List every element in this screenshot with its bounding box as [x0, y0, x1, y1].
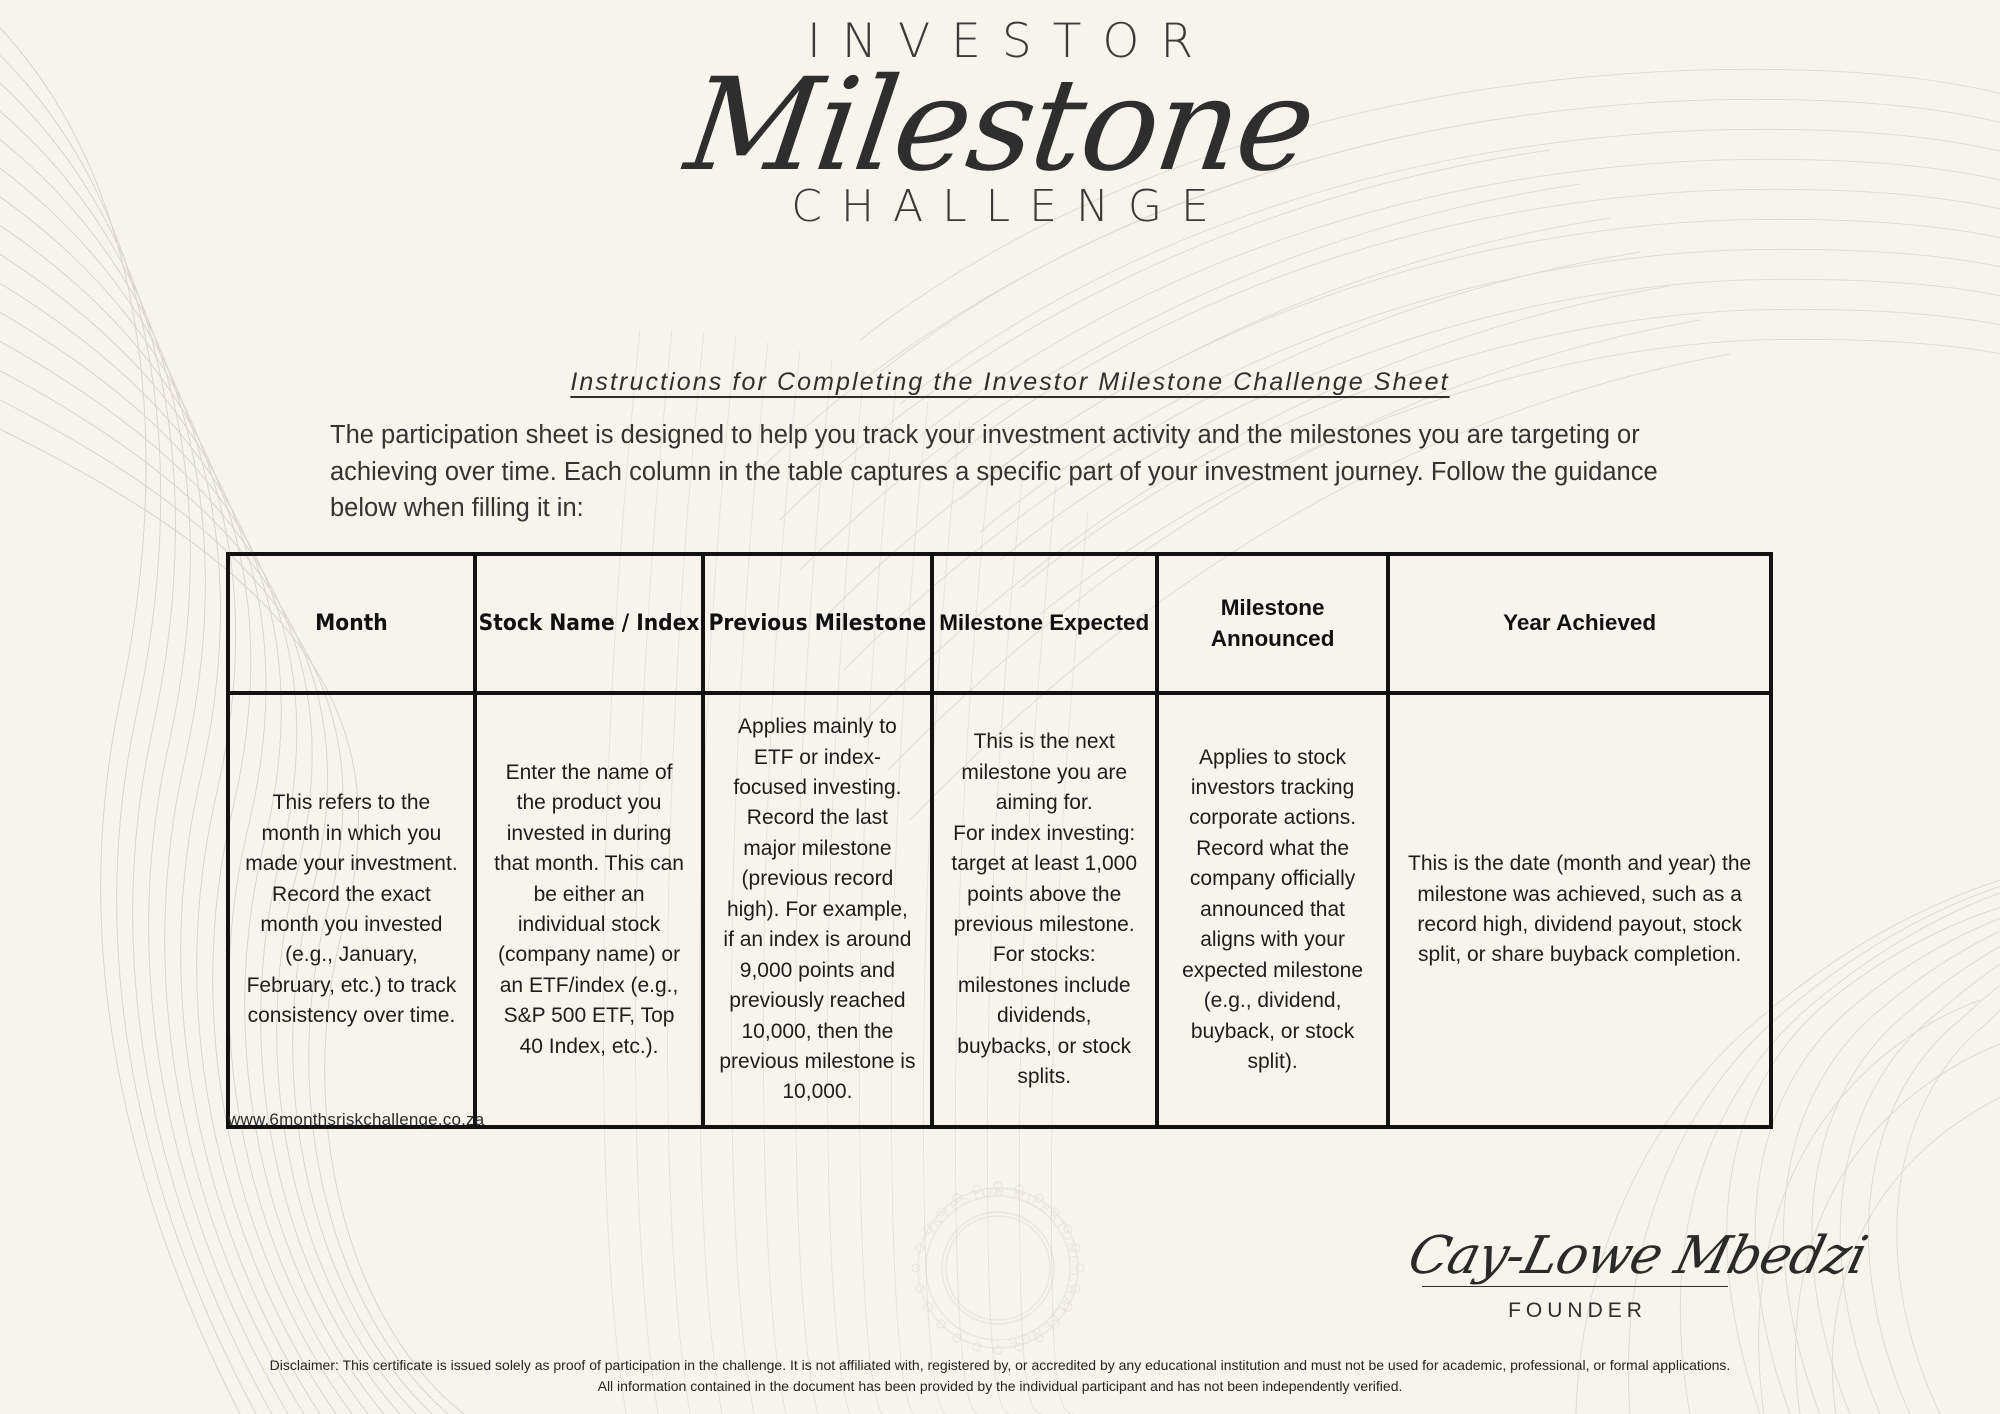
column-header-stock-name-index: Stock Name / Index [475, 554, 703, 693]
certificate-title: INVESTOR Milestone CHALLENGE [0, 18, 2000, 229]
title-script-milestone: Milestone [0, 59, 2000, 193]
column-header-milestone-announced: Milestone Announced [1157, 554, 1388, 693]
instructions-heading: Instructions for Completing the Investor… [330, 368, 1690, 397]
cell-previous-milestone-description: Applies mainly to ETF or index-focused i… [703, 693, 931, 1127]
signature-role: FOUNDER [1410, 1299, 1740, 1323]
cell-year-achieved-description: This is the date (month and year) the mi… [1388, 693, 1771, 1127]
disclaimer-line-2: All information contained in the documen… [0, 1376, 2000, 1398]
signature-line [1422, 1286, 1728, 1287]
cell-milestone-announced-description: Applies to stock investors tracking corp… [1157, 693, 1388, 1127]
signature-name: Cay-Lowe Mbedzi [1404, 1230, 1747, 1282]
seal-watermark: INVESTOR MILESTONE CHALLENGE [898, 1168, 1098, 1368]
cell-milestone-expected-description: This is the next milestone you are aimin… [932, 693, 1157, 1127]
website-url[interactable]: www.6monthsriskchallenge.co.za [228, 1110, 484, 1130]
seal-icon: INVESTOR MILESTONE CHALLENGE [898, 1168, 1098, 1368]
instructions-section: Instructions for Completing the Investor… [330, 368, 1690, 527]
table-row: This refers to the month in which you ma… [228, 693, 1771, 1127]
signature-block: Cay-Lowe Mbedzi FOUNDER [1410, 1230, 1740, 1323]
guidance-table: Month Stock Name / Index Previous Milest… [226, 552, 1773, 1129]
column-header-month: Month [228, 554, 475, 693]
cell-month-description: This refers to the month in which you ma… [228, 693, 475, 1127]
column-header-year-achieved: Year Achieved [1388, 554, 1771, 693]
certificate-sheet: INVESTOR Milestone CHALLENGE Instruction… [0, 0, 2000, 1414]
column-header-previous-milestone: Previous Milestone [703, 554, 931, 693]
instructions-paragraph: The participation sheet is designed to h… [330, 417, 1690, 527]
table-header-row: Month Stock Name / Index Previous Milest… [228, 554, 1771, 693]
column-header-milestone-expected: Milestone Expected [932, 554, 1157, 693]
cell-stock-name-index-description: Enter the name of the product you invest… [475, 693, 703, 1127]
